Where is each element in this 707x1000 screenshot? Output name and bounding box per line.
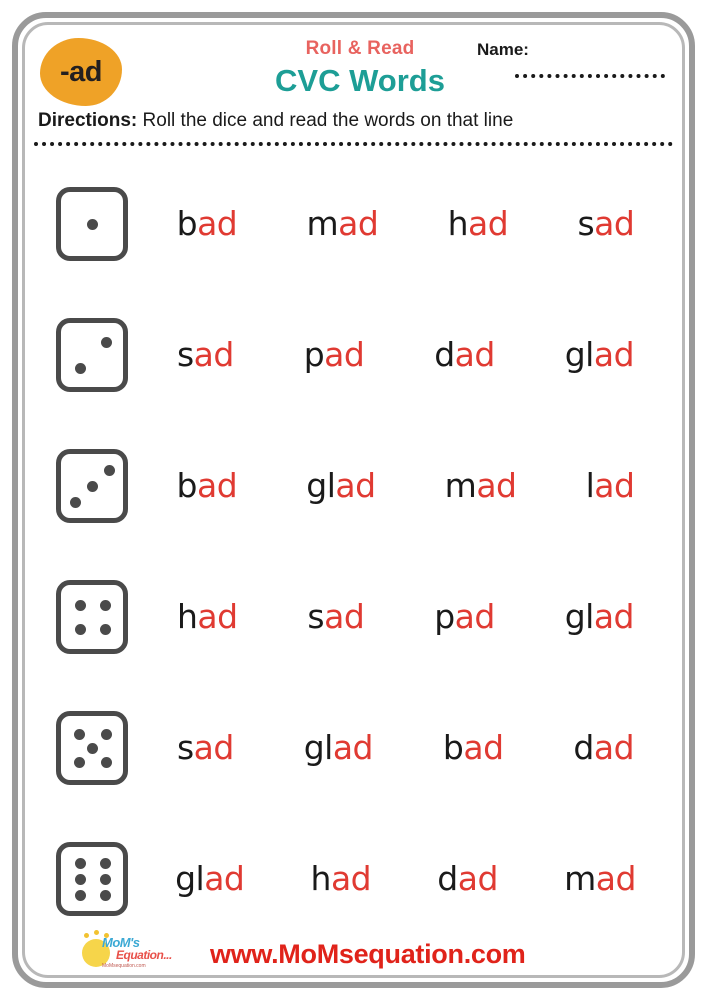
- die-pip: [104, 465, 115, 476]
- word-onset: h: [448, 204, 468, 243]
- cvc-word[interactable]: bad: [177, 207, 238, 240]
- worksheet-page: -ad Roll & Read CVC Words Name: Directio…: [0, 0, 707, 1000]
- die-pip: [100, 858, 111, 869]
- word-row: badgladmadlad: [32, 420, 675, 551]
- die-pip: [100, 600, 111, 611]
- cvc-word[interactable]: sad: [577, 207, 634, 240]
- cvc-word[interactable]: sad: [307, 600, 364, 633]
- word-rime: ad: [333, 728, 373, 767]
- word-onset: gl: [175, 859, 204, 898]
- worksheet-header: -ad Roll & Read CVC Words Name: Directio…: [32, 30, 675, 148]
- cvc-word[interactable]: mad: [445, 469, 517, 502]
- logo-word-secondary: Equation...: [116, 949, 172, 961]
- logo-subtext: MoMsequation.com: [102, 964, 146, 969]
- die-pip: [75, 363, 86, 374]
- die-pip: [70, 497, 81, 508]
- cvc-word[interactable]: had: [448, 207, 509, 240]
- word-onset: h: [177, 597, 197, 636]
- word-list: hadsadpadglad: [128, 600, 675, 633]
- word-family-badge-label: -ad: [60, 58, 102, 87]
- word-onset: gl: [304, 728, 333, 767]
- header-divider: [34, 142, 673, 146]
- cvc-word[interactable]: lad: [586, 469, 635, 502]
- word-rows: badmadhadsadsadpaddadgladbadgladmadladha…: [32, 158, 675, 944]
- word-onset: gl: [306, 466, 335, 505]
- word-rime: ad: [463, 728, 503, 767]
- die-face-6: [56, 842, 128, 916]
- word-rime: ad: [197, 204, 237, 243]
- word-rime: ad: [197, 466, 237, 505]
- word-onset: s: [177, 728, 194, 767]
- die-face-1: [56, 187, 128, 261]
- word-rime: ad: [194, 335, 234, 374]
- word-list: badgladmadlad: [128, 469, 675, 502]
- momsequation-logo: MoM's Equation... MoMsequation.com: [76, 930, 192, 978]
- die-pip: [101, 729, 112, 740]
- die-pip: [100, 624, 111, 635]
- word-onset: s: [177, 335, 194, 374]
- word-row: gladhaddadmad: [32, 813, 675, 944]
- word-list: gladhaddadmad: [128, 862, 675, 895]
- word-family-badge: -ad: [40, 38, 122, 106]
- cvc-word[interactable]: bad: [443, 731, 504, 764]
- word-rime: ad: [455, 335, 495, 374]
- die-pip: [100, 874, 111, 885]
- word-onset: m: [445, 466, 477, 505]
- word-onset: d: [437, 859, 457, 898]
- worksheet-footer: MoM's Equation... MoMsequation.com www.M…: [32, 928, 675, 980]
- die-pip: [75, 874, 86, 885]
- word-rime: ad: [594, 728, 634, 767]
- word-rime: ad: [197, 597, 237, 636]
- cvc-word[interactable]: bad: [177, 469, 238, 502]
- worksheet-content: -ad Roll & Read CVC Words Name: Directio…: [32, 30, 675, 970]
- die-face-3: [56, 449, 128, 523]
- word-rime: ad: [594, 335, 634, 374]
- directions-line: Directions: Roll the dice and read the w…: [38, 110, 675, 132]
- cvc-word[interactable]: pad: [434, 600, 495, 633]
- word-row: badmadhadsad: [32, 158, 675, 289]
- cvc-word[interactable]: dad: [573, 731, 634, 764]
- cvc-word[interactable]: glad: [304, 731, 373, 764]
- word-rime: ad: [594, 204, 634, 243]
- word-onset: l: [586, 466, 595, 505]
- word-onset: b: [177, 204, 197, 243]
- word-rime: ad: [331, 859, 371, 898]
- cvc-word[interactable]: glad: [175, 862, 244, 895]
- die-face-4: [56, 580, 128, 654]
- word-onset: b: [443, 728, 463, 767]
- cvc-word[interactable]: had: [311, 862, 372, 895]
- die-face-2: [56, 318, 128, 392]
- word-rime: ad: [335, 466, 375, 505]
- die-face-5: [56, 711, 128, 785]
- cvc-word[interactable]: sad: [177, 338, 234, 371]
- word-rime: ad: [338, 204, 378, 243]
- cvc-word[interactable]: glad: [306, 469, 375, 502]
- word-rime: ad: [455, 597, 495, 636]
- cvc-word[interactable]: mad: [564, 862, 636, 895]
- cvc-word[interactable]: dad: [437, 862, 498, 895]
- cvc-word[interactable]: pad: [304, 338, 365, 371]
- die-pip: [75, 600, 86, 611]
- word-rime: ad: [468, 204, 508, 243]
- cvc-word[interactable]: sad: [177, 731, 234, 764]
- word-rime: ad: [476, 466, 516, 505]
- word-rime: ad: [594, 597, 634, 636]
- word-onset: gl: [565, 335, 594, 374]
- name-field-label: Name:: [477, 40, 673, 60]
- cvc-word[interactable]: had: [177, 600, 238, 633]
- cvc-word[interactable]: glad: [565, 338, 634, 371]
- die-pip: [75, 890, 86, 901]
- directions-text: Roll the dice and read the words on that…: [137, 110, 513, 131]
- word-list: badmadhadsad: [128, 207, 675, 240]
- word-list: sadgladbaddad: [128, 731, 675, 764]
- word-row: hadsadpadglad: [32, 551, 675, 682]
- word-onset: d: [573, 728, 593, 767]
- word-onset: h: [311, 859, 331, 898]
- die-pip: [75, 624, 86, 635]
- word-rime: ad: [324, 335, 364, 374]
- word-rime: ad: [204, 859, 244, 898]
- word-list: sadpaddadglad: [128, 338, 675, 371]
- word-onset: s: [307, 597, 324, 636]
- die-pip: [101, 757, 112, 768]
- directions-label: Directions:: [38, 110, 137, 131]
- die-pip: [75, 858, 86, 869]
- word-rime: ad: [594, 466, 634, 505]
- die-pip: [74, 729, 85, 740]
- word-onset: m: [307, 204, 339, 243]
- word-onset: d: [434, 335, 454, 374]
- word-onset: b: [177, 466, 197, 505]
- cvc-word[interactable]: mad: [307, 207, 379, 240]
- word-onset: p: [434, 597, 454, 636]
- word-onset: s: [577, 204, 594, 243]
- word-onset: p: [304, 335, 324, 374]
- name-input-line[interactable]: [515, 64, 665, 78]
- word-rime: ad: [324, 597, 364, 636]
- word-row: sadgladbaddad: [32, 682, 675, 813]
- die-pip: [101, 337, 112, 348]
- word-row: sadpaddadglad: [32, 289, 675, 420]
- sparkle-icon: [94, 930, 99, 935]
- die-pip: [87, 481, 98, 492]
- word-rime: ad: [194, 728, 234, 767]
- website-url[interactable]: www.MoMsequation.com: [210, 941, 526, 968]
- word-onset: gl: [565, 597, 594, 636]
- word-rime: ad: [596, 859, 636, 898]
- name-field-block: Name:: [455, 40, 673, 78]
- cvc-word[interactable]: dad: [434, 338, 495, 371]
- die-pip: [74, 757, 85, 768]
- die-pip: [87, 219, 98, 230]
- word-rime: ad: [458, 859, 498, 898]
- cvc-word[interactable]: glad: [565, 600, 634, 633]
- die-pip: [87, 743, 98, 754]
- die-pip: [100, 890, 111, 901]
- sparkle-icon: [84, 933, 89, 938]
- word-onset: m: [564, 859, 596, 898]
